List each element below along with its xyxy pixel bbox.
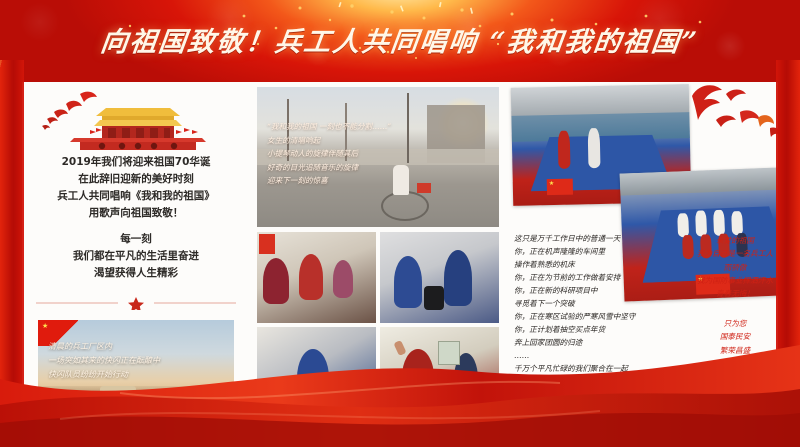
tribute-a-line-1: 亲爱的祖国	[692, 234, 778, 247]
tribute-a-line-2: 我为自己是一名兵工人	[692, 247, 778, 260]
photo-elderly-women-singing	[257, 232, 376, 323]
chorus-figure	[695, 210, 707, 236]
photo-woman-red-hoodie-waving	[380, 327, 499, 418]
gate-building	[70, 108, 206, 150]
street-caption-line-1: “我和我的祖国 一刻也不能分割……”	[267, 122, 391, 131]
flag-star-icon: ★	[42, 322, 48, 330]
singer-figure-white	[588, 128, 601, 168]
flying-doves-icon	[42, 92, 97, 130]
poem-line-2: 你，正在机声隆隆的车间里	[514, 245, 686, 258]
tribute-b-line-3: 繁荣昌盛	[692, 344, 778, 357]
poster-title-wrap: 向祖国致敬！兵工人共同唱响 “我和我的祖国”	[0, 20, 800, 59]
left-silk-border	[0, 60, 24, 447]
poem-line-3: 操作着熟悉的机床	[514, 258, 686, 271]
paragraph-gap	[30, 222, 242, 231]
poem-line-9: 奔上回家团圆的归途	[514, 336, 686, 349]
poem-line-11: 千万个平凡忙碌的我们聚合在一起	[514, 362, 686, 375]
left-line-2: 在此辞旧迎新的美好时刻	[78, 173, 194, 185]
photo-girl-cycling-street: “我和我的祖国 一刻也不能分割……” 女生的清唱响起 小提琴动人的旋律伴随其后 …	[257, 87, 499, 227]
left-intro-text: 2019年我们将迎来祖国70华诞 在此辞旧迎新的美好时刻 兵工人共同唱响《我和我…	[30, 154, 242, 282]
poem-line-4: 你，正在为节前的工作做着安排	[514, 271, 686, 284]
factory-building	[90, 393, 146, 413]
left-line-5: 每一刻	[120, 233, 152, 245]
tribute-a-line-3: 而骄傲	[692, 261, 778, 274]
tribute-b-line-1: 只为您	[692, 317, 778, 330]
person-figure	[333, 260, 353, 298]
small-national-flag: ★	[283, 385, 305, 399]
photo-two-workers-blue-uniform	[380, 232, 499, 323]
worker-poem-text: 这只是万千工作日中的普通一天 你，正在机声隆隆的车间里 操作着熟悉的机床 你，正…	[514, 232, 686, 402]
street-caption-line-3: 小提琴动人的旋律伴随其后	[267, 149, 358, 158]
poem-line-12: 是兵工人对“铸国防利剑”	[514, 376, 686, 389]
singer-figure-red	[558, 131, 571, 169]
caption-line-1: 清晨的兵工厂区内	[48, 342, 112, 351]
chorus-figure	[713, 210, 725, 236]
tribute-text: 亲爱的祖国 我为自己是一名兵工人 而骄傲 我为国防事业挥洒汗水 青春无悔！ 只为…	[692, 234, 778, 357]
poem-line-10: ……	[514, 349, 686, 362]
poem-line-7: 你，正在寒区试验的严寒风雪中坚守	[514, 310, 686, 323]
left-line-3: 兵工人共同唱响《我和我的祖国》	[57, 190, 215, 202]
poem-line-13: 不变的初心和坚守	[514, 389, 686, 402]
photo-worker-holding-flag: ★	[257, 327, 376, 418]
left-column: 2019年我们将迎来祖国70华诞 在此辞旧迎新的美好时刻 兵工人共同唱响《我和我…	[22, 82, 250, 420]
person-figure	[299, 254, 323, 300]
small-national-flag: ★	[547, 179, 573, 196]
bicycle	[381, 191, 429, 221]
flag-star-icon: ★	[549, 181, 555, 187]
caption-line-3: 快闪队员纷纷开始行动	[48, 370, 128, 379]
right-column: ★ ★	[506, 82, 778, 420]
tribute-a-line-4: 我为国防事业挥洒汗水	[692, 274, 778, 287]
wall-picture	[438, 341, 460, 365]
flying-doves-icon	[664, 82, 778, 158]
left-line-4: 用歌声向祖国致敬！	[89, 207, 184, 219]
red-star-icon	[128, 297, 144, 310]
left-line-1: 2019年我们将迎来祖国70华诞	[62, 156, 211, 168]
center-column: “我和我的祖国 一刻也不能分割……” 女生的清唱响起 小提琴动人的旋律伴随其后 …	[254, 82, 502, 420]
street-caption-line-2: 女生的清唱响起	[267, 136, 320, 145]
main-white-panel: 2019年我们将迎来祖国70华诞 在此辞旧迎新的美好时刻 兵工人共同唱响《我和我…	[22, 82, 778, 420]
photo-street-caption: “我和我的祖国 一刻也不能分割……” 女生的清唱响起 小提琴动人的旋律伴随其后 …	[267, 120, 467, 188]
street-caption-line-5: 迎来下一刻的惊喜	[267, 176, 328, 185]
photo-grid: ★	[257, 232, 499, 417]
tribute-a-line-5: 青春无悔！	[692, 287, 778, 300]
poem-line-1: 这只是万千工作日中的普通一天	[514, 232, 686, 245]
street-caption-line-4: 好奇的目光追随音乐的旋律	[267, 163, 358, 172]
office-chair	[424, 286, 444, 310]
poem-line-8: 你，正计划着抽空买点年货	[514, 323, 686, 336]
star-divider	[36, 296, 236, 310]
photo-factory-dawn: ★ 清晨的兵工厂区内 一场突如其来的快闪正在酝酿中 快闪队员纷纷开始行动	[38, 320, 234, 420]
wall-poster	[259, 234, 275, 254]
flag-star-icon: ★	[285, 387, 290, 393]
photo-factory-dawn-caption: 清晨的兵工厂区内 一场突如其来的快闪正在酝酿中 快闪队员纷纷开始行动	[48, 340, 224, 381]
person-figure	[402, 349, 434, 405]
person-figure	[444, 250, 472, 306]
left-line-6: 我们都在平凡的生活里奋进	[73, 250, 199, 262]
caption-line-2: 一场突如其来的快闪正在酝酿中	[48, 356, 160, 365]
poster-title: 向祖国致敬！兵工人共同唱响 “我和我的祖国”	[99, 20, 701, 59]
poem-line-6: 寻觅着下一个突破	[514, 297, 686, 310]
left-line-7: 渴望获得人生精彩	[94, 267, 178, 279]
tribute-b-line-2: 国泰民安	[692, 330, 778, 343]
poster-root: 向祖国致敬！兵工人共同唱响 “我和我的祖国”	[0, 0, 800, 447]
person-figure	[263, 258, 289, 304]
poem-line-5: 你，正在新的科研项目中	[514, 284, 686, 297]
raised-arm	[393, 339, 406, 355]
right-silk-border	[776, 60, 800, 447]
tiananmen-gate-icon	[40, 88, 236, 150]
person-figure	[394, 256, 422, 308]
chorus-figure	[731, 211, 743, 235]
